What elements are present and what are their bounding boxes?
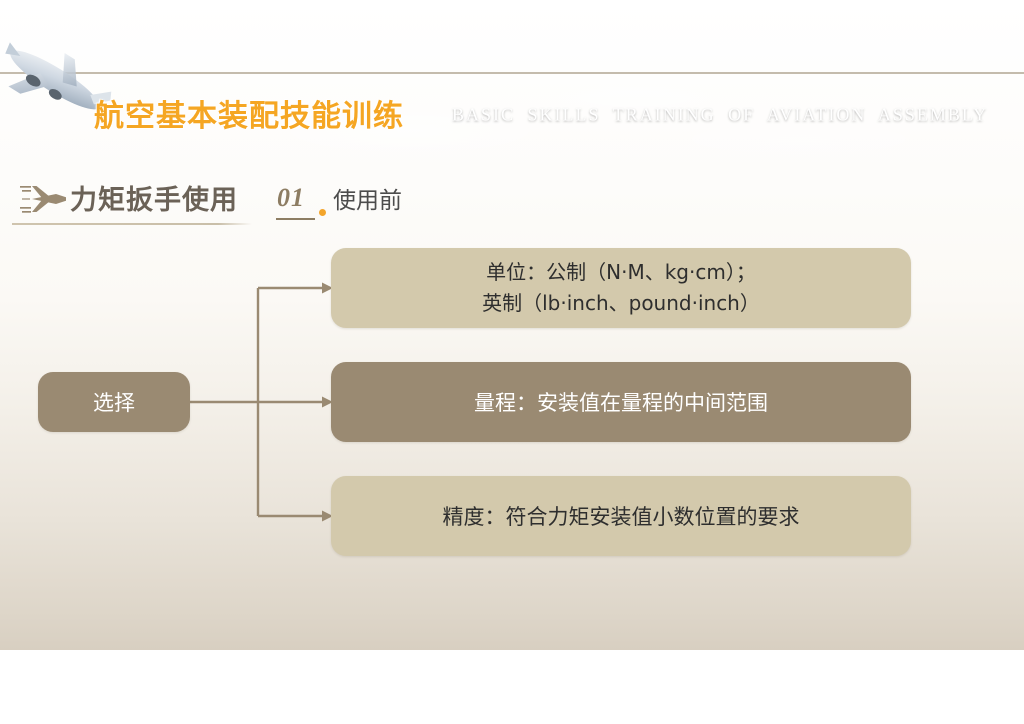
node-unit-line1: 单位：公制（N·M、kg·cm）； bbox=[482, 257, 760, 288]
diagram-node-unit[interactable]: 单位：公制（N·M、kg·cm）； 英制（lb·inch、pound·inch） bbox=[331, 248, 911, 328]
banner-title-chinese: 航空基本装配技能训练 bbox=[94, 91, 404, 135]
step-dot-icon bbox=[319, 209, 326, 216]
banner-title-english: BASIC SKILLS TRAINING OF AVIATION ASSEMB… bbox=[452, 105, 988, 126]
step-number: 01 bbox=[277, 183, 305, 213]
step-number-underline bbox=[276, 218, 315, 220]
node-precision-label: 精度：符合力矩安装值小数位置的要求 bbox=[443, 501, 800, 531]
slide-canvas: 航空基本装配技能训练 BASIC SKILLS TRAINING OF AVIA… bbox=[0, 0, 1024, 650]
section-title-underline bbox=[12, 223, 252, 225]
section-title: 力矩扳手使用 bbox=[70, 178, 238, 217]
diagram-node-range[interactable]: 量程：安装值在量程的中间范围 bbox=[331, 362, 911, 442]
airplane-icon bbox=[18, 182, 70, 216]
node-source-label: 选择 bbox=[93, 387, 135, 417]
node-range-label: 量程：安装值在量程的中间范围 bbox=[474, 387, 768, 417]
banner-top-rule bbox=[0, 72, 1024, 74]
step-label: 使用前 bbox=[333, 181, 402, 215]
diagram-node-precision[interactable]: 精度：符合力矩安装值小数位置的要求 bbox=[331, 476, 911, 556]
node-unit-line2: 英制（lb·inch、pound·inch） bbox=[482, 288, 760, 319]
header-banner: 航空基本装配技能训练 BASIC SKILLS TRAINING OF AVIA… bbox=[0, 72, 1024, 156]
section-heading: 力矩扳手使用 01 使用前 bbox=[0, 178, 1024, 230]
diagram-node-source[interactable]: 选择 bbox=[38, 372, 190, 432]
